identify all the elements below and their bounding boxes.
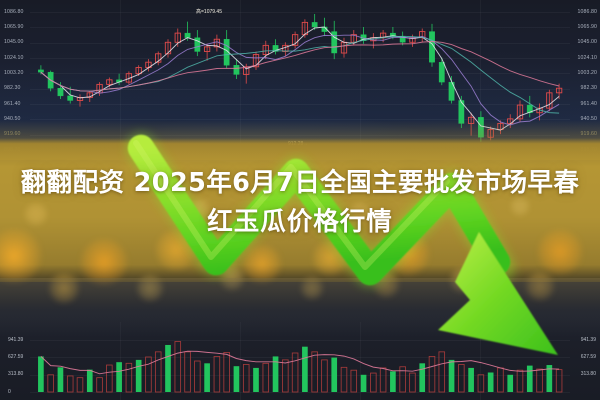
title-line-1: 翻翻配资 2025年6月7日全国主要批发市场早春 [16, 164, 584, 203]
title-line-2: 红玉瓜价格行情 [16, 203, 584, 242]
banner-stage: 1086.801065.901045.001024.101003.20982.3… [0, 0, 600, 400]
banner-title: 翻翻配资 2025年6月7日全国主要批发市场早春 红玉瓜价格行情 [0, 164, 600, 242]
